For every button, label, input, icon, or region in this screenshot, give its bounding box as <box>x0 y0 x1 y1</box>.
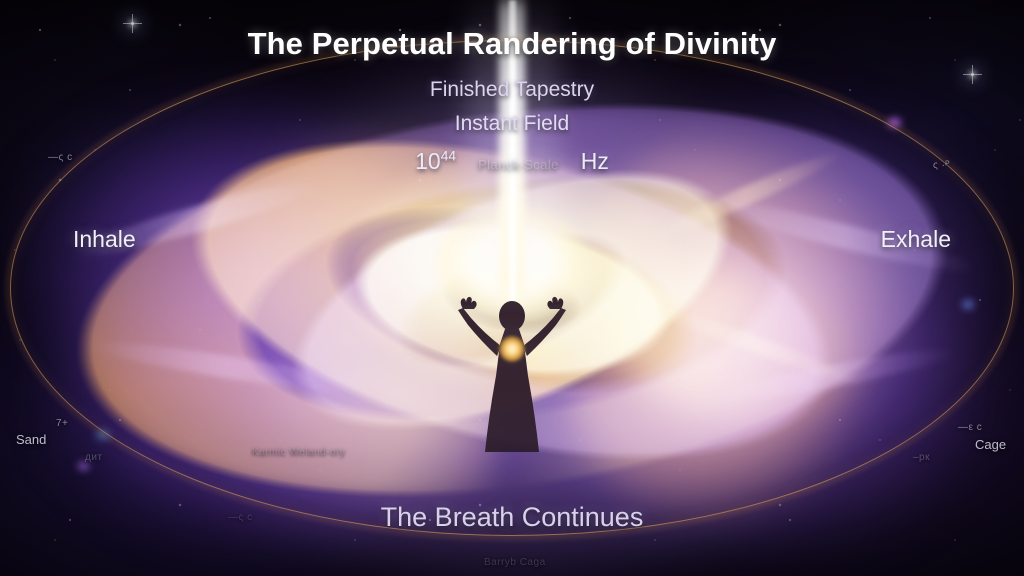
subtitle-instant-field: Instant Field <box>0 112 1024 136</box>
page-title: The Perpetual Randering of Divinity <box>0 26 1024 62</box>
ghost-text-footer: Barryb Caga <box>484 557 546 568</box>
ghost-text-mid-left: Karmic Weland-ory <box>252 447 345 458</box>
label-exhale: Exhale <box>881 226 951 253</box>
frequency-mantissa: 10 <box>415 148 441 174</box>
cosmic-illustration-canvas: The Perpetual Randering of Divinity Fini… <box>0 0 1024 576</box>
micro-annotation-bottom-left-upper: 7+ <box>56 418 68 429</box>
frequency-exponent: 44 <box>441 148 456 163</box>
subtitle-finished-tapestry: Finished Tapestry <box>0 78 1024 102</box>
label-the-breath-continues: The Breath Continues <box>0 502 1024 533</box>
corner-label-sand: Sand <box>16 432 46 447</box>
bright-star-upper-left <box>131 22 134 25</box>
micro-annotation-bottom-right-upper: —ε c <box>958 422 982 433</box>
corner-label-cage: Cage <box>975 437 1006 452</box>
label-inhale: Inhale <box>73 226 136 253</box>
frequency-ghost-text: Planck-Scale <box>478 157 559 172</box>
micro-annotation-bottom-right-lower: –рк <box>913 452 930 463</box>
frequency-unit: Hz <box>581 148 609 174</box>
micro-annotation-bottom-left-lower: дит <box>85 452 103 463</box>
frequency-readout: 1044Planck-ScaleHz <box>0 148 1024 175</box>
